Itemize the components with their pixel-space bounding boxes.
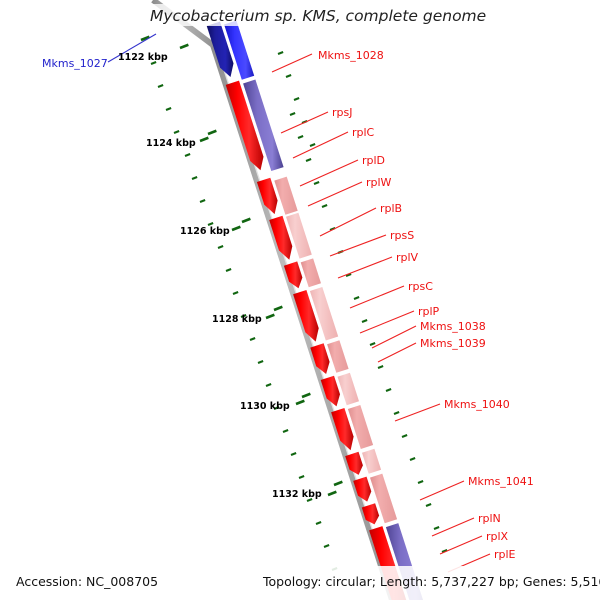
gene-label-leader bbox=[330, 235, 386, 256]
ruler-tick bbox=[250, 338, 255, 340]
gene-label-rplw[interactable]: rplW bbox=[366, 176, 392, 189]
gene-label-rpld[interactable]: rplD bbox=[362, 154, 385, 167]
gene-labels[interactable]: Mkms_1027Mkms_1028rpsJrplCrplDrplWrplBrp… bbox=[42, 49, 534, 561]
gene-label-rplc[interactable]: rplC bbox=[352, 126, 375, 139]
ruler-tick bbox=[200, 138, 208, 141]
ruler-tick-label: 1124 kbp bbox=[146, 138, 196, 149]
ruler-tick bbox=[306, 159, 311, 161]
ruler-tick bbox=[322, 205, 327, 207]
gene-label-leader bbox=[338, 257, 392, 278]
gene-feature-reverse[interactable] bbox=[301, 258, 321, 287]
ruler-tick bbox=[232, 227, 240, 230]
ruler-tick bbox=[274, 307, 282, 310]
gene-feature-reverse[interactable] bbox=[274, 177, 297, 215]
ruler-tick bbox=[226, 269, 231, 271]
ruler-tick bbox=[426, 504, 431, 506]
ruler-tick bbox=[324, 545, 329, 547]
gene-label-rpss[interactable]: rpsS bbox=[390, 229, 414, 242]
gene-label-rple[interactable]: rplE bbox=[494, 548, 516, 561]
ruler-tick bbox=[266, 315, 274, 318]
ruler-tick bbox=[418, 481, 423, 483]
gene-label-leader bbox=[272, 54, 312, 72]
gene-label-leader bbox=[378, 343, 416, 362]
ruler-tick bbox=[362, 320, 367, 322]
gene-label-mkms_1039[interactable]: Mkms_1039 bbox=[420, 337, 486, 350]
ruler-tick bbox=[242, 219, 250, 222]
ruler-tick bbox=[334, 482, 342, 485]
ruler-tick bbox=[302, 394, 310, 397]
ruler-tick bbox=[291, 453, 296, 455]
gene-feature-reverse[interactable] bbox=[338, 373, 360, 406]
ruler-tick-label: 1128 kbp bbox=[212, 314, 262, 325]
ruler-tick bbox=[310, 144, 315, 146]
ruler-tick bbox=[314, 182, 319, 184]
ruler-tick bbox=[394, 412, 399, 414]
ruler-tick bbox=[378, 366, 383, 368]
ruler-tick bbox=[386, 389, 391, 391]
ruler-tick bbox=[258, 361, 263, 363]
ruler-tick bbox=[233, 292, 238, 294]
ruler-tick bbox=[434, 527, 439, 529]
ruler-tick bbox=[370, 343, 375, 345]
gene-label-leader bbox=[395, 404, 440, 421]
ruler-tick bbox=[180, 45, 188, 48]
gene-label-leader bbox=[308, 182, 362, 206]
ruler-tick bbox=[266, 384, 271, 386]
gene-label-mkms_1041[interactable]: Mkms_1041 bbox=[468, 475, 534, 488]
ruler-tick bbox=[283, 430, 288, 432]
genome-map-svg[interactable]: 1122 kbp1124 kbp1126 kbp1128 kbp1130 kbp… bbox=[0, 0, 600, 600]
ruler-tick bbox=[298, 136, 303, 138]
ruler-tick bbox=[299, 476, 304, 478]
gene-label-rpsj[interactable]: rpsJ bbox=[332, 106, 352, 119]
ruler-tick bbox=[166, 108, 171, 110]
gene-label-mkms_1028[interactable]: Mkms_1028 bbox=[318, 49, 384, 62]
ruler-tick-label: 1130 kbp bbox=[240, 401, 290, 412]
ruler-tick bbox=[354, 297, 359, 299]
accession-label: Accession: NC_008705 bbox=[16, 574, 158, 589]
gene-label-rplx[interactable]: rplX bbox=[486, 530, 509, 543]
ruler-tick bbox=[208, 131, 216, 134]
gene-label-rplp[interactable]: rplP bbox=[418, 305, 440, 318]
genome-map-canvas[interactable]: 1122 kbp1124 kbp1126 kbp1128 kbp1130 kbp… bbox=[0, 0, 600, 600]
ruler-tick-label: 1126 kbp bbox=[180, 226, 230, 237]
ruler-tick bbox=[200, 200, 205, 202]
ruler-tick bbox=[286, 75, 291, 77]
gene-label-leader bbox=[320, 208, 376, 236]
ruler-tick-label: 1132 kbp bbox=[272, 489, 322, 500]
ruler-tick bbox=[402, 435, 407, 437]
gene-label-rplb[interactable]: rplB bbox=[380, 202, 402, 215]
genome-backbone[interactable] bbox=[153, 0, 395, 600]
ruler-tick bbox=[294, 98, 299, 100]
ruler-tick bbox=[328, 492, 336, 495]
ruler-tick-label: 1122 kbp bbox=[118, 52, 168, 63]
gene-label-mkms_1040[interactable]: Mkms_1040 bbox=[444, 398, 510, 411]
topology-summary: Topology: circular; Length: 5,737,227 bp… bbox=[262, 574, 600, 589]
ruler-tick bbox=[296, 401, 304, 404]
gene-feature-reverse[interactable] bbox=[327, 340, 349, 373]
ruler-tick bbox=[158, 85, 163, 87]
ruler-tick bbox=[174, 131, 179, 133]
gene-label-mkms_1027[interactable]: Mkms_1027 bbox=[42, 57, 108, 70]
ruler-tick bbox=[218, 246, 223, 248]
gene-feature-reverse[interactable] bbox=[362, 449, 381, 474]
gene-label-leader bbox=[440, 536, 482, 554]
gene-label-leader bbox=[360, 311, 414, 333]
gene-label-rpsc[interactable]: rpsC bbox=[408, 280, 433, 293]
gene-label-rpln[interactable]: rplN bbox=[478, 512, 501, 525]
ruler-tick bbox=[410, 458, 415, 460]
ruler-tick bbox=[185, 154, 190, 156]
gene-label-leader bbox=[420, 481, 464, 500]
ruler-tick bbox=[316, 522, 321, 524]
ruler-tick bbox=[278, 52, 283, 54]
gene-label-leader bbox=[300, 160, 358, 186]
ruler-tick bbox=[208, 223, 213, 225]
status-bar: Accession: NC_008705 Topology: circular;… bbox=[0, 566, 600, 600]
gene-label-rplv[interactable]: rplV bbox=[396, 251, 419, 264]
ruler-tick bbox=[290, 113, 295, 115]
gene-label-leader bbox=[372, 326, 416, 348]
ruler-tick bbox=[192, 177, 197, 179]
page-title: Mycobacterium sp. KMS, complete genome bbox=[148, 4, 486, 26]
gene-label-leader bbox=[281, 112, 328, 133]
genome-title-text: Mycobacterium sp. KMS, complete genome bbox=[150, 7, 486, 25]
gene-label-mkms_1038[interactable]: Mkms_1038 bbox=[420, 320, 486, 333]
